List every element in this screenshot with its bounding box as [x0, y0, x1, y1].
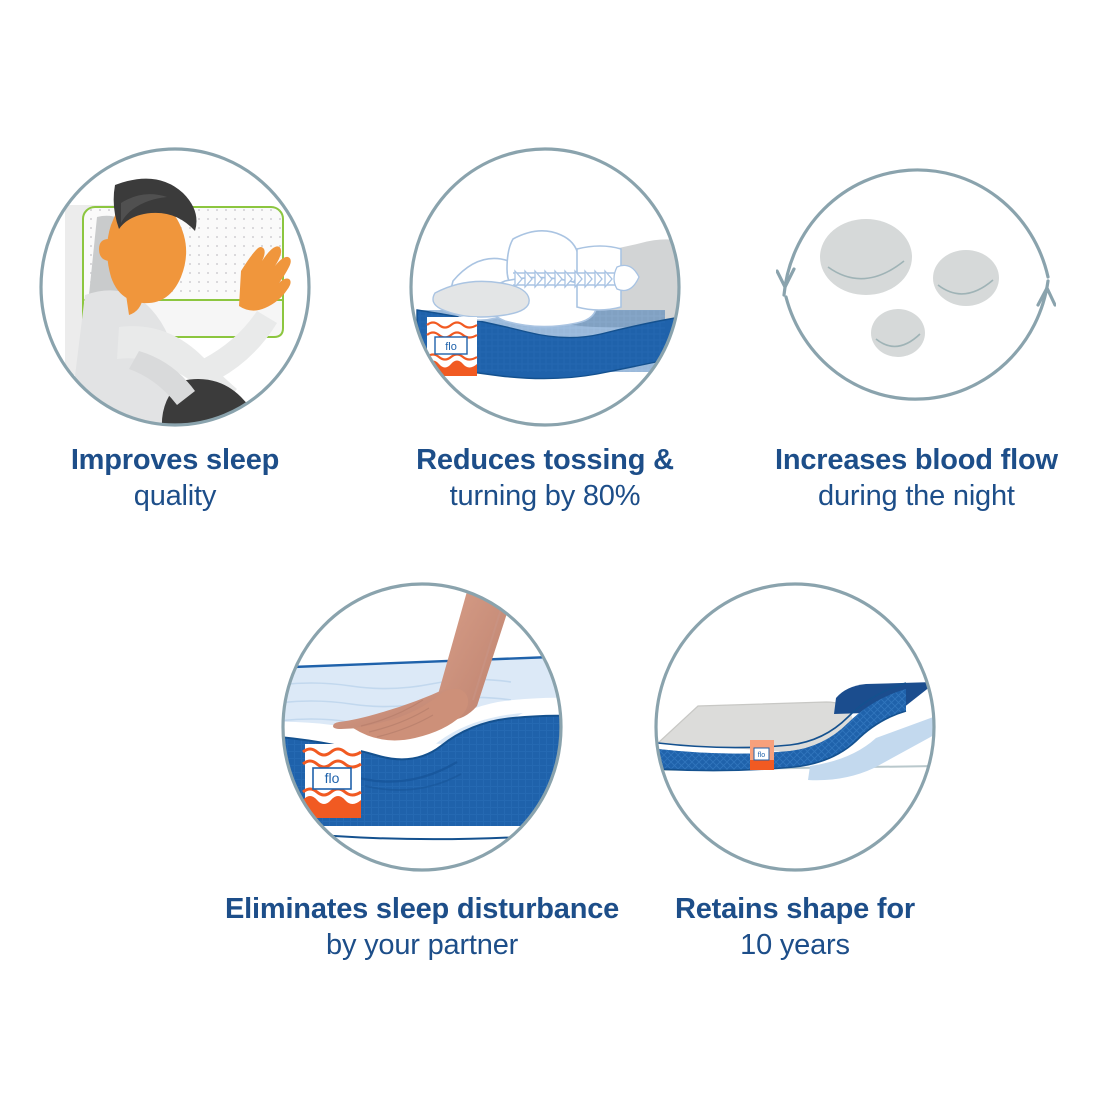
feature-increases-blood-flow: Increases blood flow during the night — [775, 145, 1058, 513]
feature-grid: Improves sleep quality — [0, 0, 1100, 1100]
feature-caption: Improves sleep quality — [71, 444, 279, 513]
feature-caption: Retains shape for 10 years — [675, 893, 915, 962]
svg-text:flo: flo — [445, 341, 457, 353]
caption-line-1: Reduces tossing & — [416, 444, 674, 476]
feature-eliminates-sleep-disturbance: flo Eliminates sleep disturbance by your… — [225, 580, 619, 962]
feature-caption: Eliminates sleep disturbance by your par… — [225, 893, 619, 962]
flo-brand-tag: flo — [750, 740, 774, 770]
svg-text:flo: flo — [325, 770, 340, 786]
feature-improves-sleep-quality: Improves sleep quality — [35, 145, 315, 513]
caption-line-1: Increases blood flow — [775, 444, 1058, 476]
circulating-arrows-blood-cells-icon — [776, 145, 1056, 430]
hand-pressing-mattress-icon: flo — [277, 580, 567, 875]
svg-text:flo: flo — [758, 752, 766, 759]
caption-line-2: 10 years — [675, 929, 915, 961]
blood-cell-group — [820, 219, 999, 357]
feature-caption: Increases blood flow during the night — [775, 444, 1058, 513]
flo-brand-tag: flo — [303, 744, 361, 818]
feature-retains-shape: flo Retains shape for 10 years — [650, 580, 940, 962]
feature-caption: Reduces tossing & turning by 80% — [416, 444, 674, 513]
person-sleeping-on-pillow-icon — [35, 145, 315, 430]
caption-line-2: by your partner — [225, 929, 619, 961]
caption-line-2: during the night — [775, 480, 1058, 512]
caption-line-1: Improves sleep — [71, 444, 279, 476]
caption-line-2: quality — [71, 480, 279, 512]
flexing-mattress-icon: flo — [650, 580, 940, 875]
caption-line-1: Eliminates sleep disturbance — [225, 893, 619, 925]
person-lying-spine-aligned-on-mattress-icon: flo — [405, 145, 685, 430]
caption-line-2: turning by 80% — [416, 480, 674, 512]
feature-reduces-tossing-turning: flo Reduces tossing & turning by 80% — [405, 145, 685, 513]
caption-line-1: Retains shape for — [675, 893, 915, 925]
